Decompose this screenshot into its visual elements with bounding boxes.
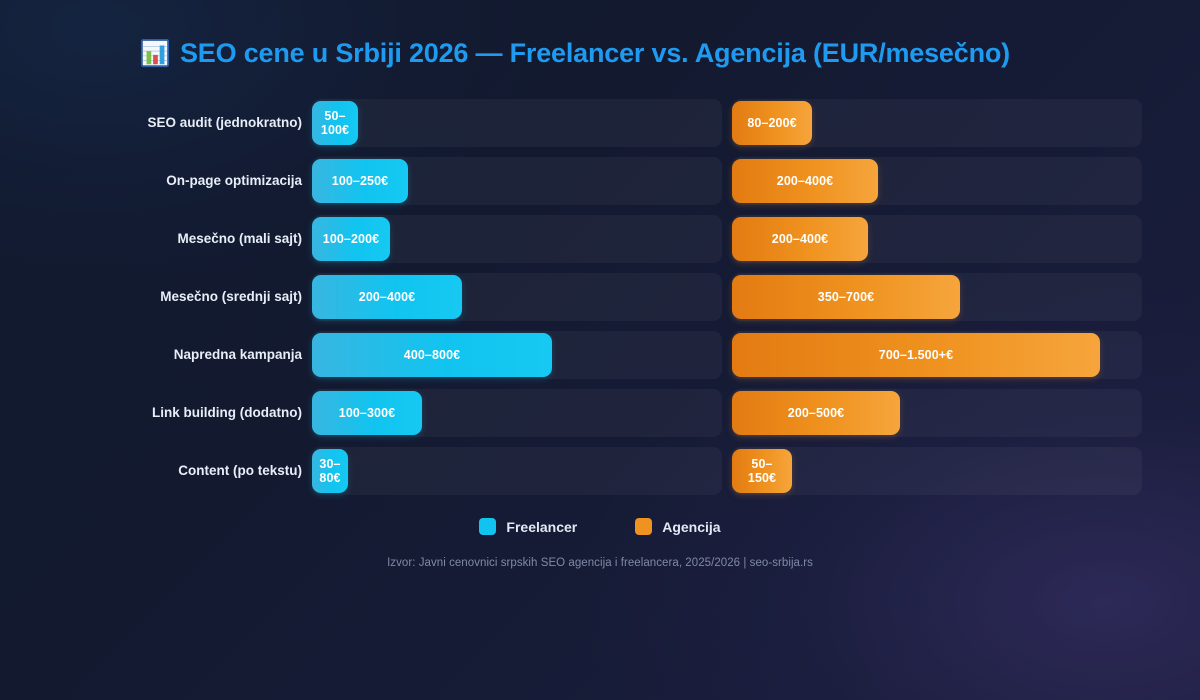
row-tracks: 30–80€50–150€: [312, 447, 1200, 495]
source-note: Izvor: Javni cenovnici srpskih SEO agenc…: [0, 557, 1200, 569]
bar-value-agencija: 50–150€: [740, 457, 784, 486]
bar-freelancer[interactable]: 100–300€: [312, 391, 422, 435]
bar-value-freelancer: 400–800€: [404, 348, 460, 362]
bar-agencija[interactable]: 700–1.500+€: [732, 333, 1100, 377]
row-label: Content (po tekstu): [130, 463, 312, 479]
bar-freelancer[interactable]: 50–100€: [312, 101, 358, 145]
bar-row: SEO audit (jednokratno)50–100€80–200€: [0, 99, 1200, 147]
bar-freelancer[interactable]: 100–250€: [312, 159, 408, 203]
bar-value-freelancer: 200–400€: [359, 290, 415, 304]
bar-row: On-page optimizacija100–250€200–400€: [0, 157, 1200, 205]
bar-freelancer[interactable]: 100–200€: [312, 217, 390, 261]
row-label: Link building (dodatno): [130, 405, 312, 421]
bar-row: Mesečno (mali sajt)100–200€200–400€: [0, 215, 1200, 263]
row-tracks: 100–300€200–500€: [312, 389, 1200, 437]
bar-value-agencija: 350–700€: [818, 290, 874, 304]
bar-row: Mesečno (srednji sajt)200–400€350–700€: [0, 273, 1200, 321]
row-label: Mesečno (srednji sajt): [130, 289, 312, 305]
row-tracks: 50–100€80–200€: [312, 99, 1200, 147]
legend-label-agencija: Agencija: [662, 519, 720, 535]
bar-rows: SEO audit (jednokratno)50–100€80–200€On-…: [0, 99, 1200, 505]
bar-freelancer[interactable]: 30–80€: [312, 449, 348, 493]
bar-agencija[interactable]: 50–150€: [732, 449, 792, 493]
legend-item-agencija[interactable]: Agencija: [635, 518, 720, 535]
bar-value-agencija: 80–200€: [747, 116, 796, 130]
legend-swatch-agencija: [635, 518, 652, 535]
bar-agencija[interactable]: 200–500€: [732, 391, 900, 435]
track-freelancer: [312, 447, 722, 495]
bar-value-freelancer: 100–300€: [339, 406, 395, 420]
bar-agencija[interactable]: 80–200€: [732, 101, 812, 145]
bar-value-freelancer: 100–200€: [323, 232, 379, 246]
chart-title-row: SEO cene u Srbiji 2026 — Freelancer vs. …: [140, 38, 1010, 68]
bar-row: Content (po tekstu)30–80€50–150€: [0, 447, 1200, 495]
bar-value-agencija: 700–1.500+€: [879, 348, 953, 362]
bar-value-freelancer: 30–80€: [319, 457, 340, 486]
legend-label-freelancer: Freelancer: [506, 519, 577, 535]
bar-freelancer[interactable]: 400–800€: [312, 333, 552, 377]
row-tracks: 100–250€200–400€: [312, 157, 1200, 205]
bar-agencija[interactable]: 200–400€: [732, 159, 878, 203]
bar-value-freelancer: 100–250€: [332, 174, 388, 188]
bar-agencija[interactable]: 200–400€: [732, 217, 868, 261]
bar-value-agencija: 200–500€: [788, 406, 844, 420]
row-label: Napredna kampanja: [130, 347, 312, 363]
row-tracks: 400–800€700–1.500+€: [312, 331, 1200, 379]
track-freelancer: [312, 99, 722, 147]
chart-canvas: SEO cene u Srbiji 2026 — Freelancer vs. …: [0, 0, 1200, 700]
row-label: Mesečno (mali sajt): [130, 231, 312, 247]
bar-row: Link building (dodatno)100–300€200–500€: [0, 389, 1200, 437]
bar-agencija[interactable]: 350–700€: [732, 275, 960, 319]
row-label: On-page optimizacija: [130, 173, 312, 189]
row-tracks: 200–400€350–700€: [312, 273, 1200, 321]
page-title: SEO cene u Srbiji 2026 — Freelancer vs. …: [180, 40, 1010, 67]
row-tracks: 100–200€200–400€: [312, 215, 1200, 263]
bar-chart-icon: [140, 38, 170, 68]
track-agencija: [732, 447, 1142, 495]
legend-swatch-freelancer: [479, 518, 496, 535]
row-label: SEO audit (jednokratno): [130, 115, 312, 131]
legend-item-freelancer[interactable]: Freelancer: [479, 518, 577, 535]
bar-value-agencija: 200–400€: [772, 232, 828, 246]
bar-row: Napredna kampanja400–800€700–1.500+€: [0, 331, 1200, 379]
bar-freelancer[interactable]: 200–400€: [312, 275, 462, 319]
chart-legend: Freelancer Agencija: [0, 518, 1200, 535]
bar-value-freelancer: 50–100€: [320, 109, 350, 138]
bar-value-agencija: 200–400€: [777, 174, 833, 188]
